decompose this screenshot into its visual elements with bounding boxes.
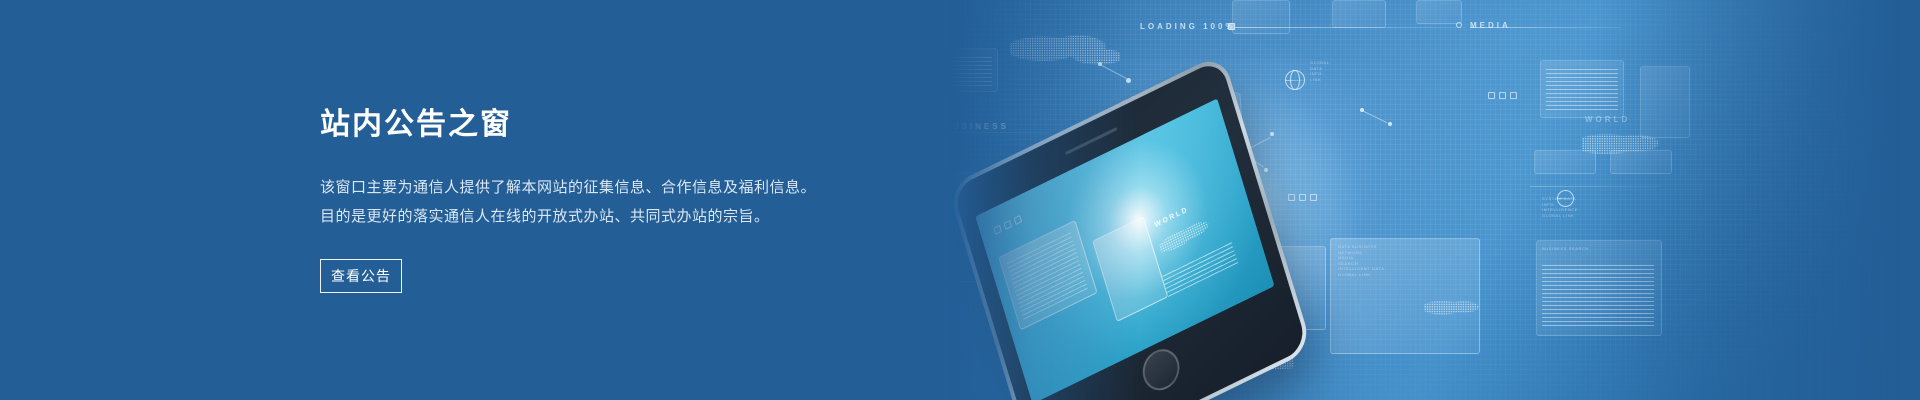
chip-icon-d2	[1499, 92, 1506, 99]
chip-icon-c1	[1288, 194, 1295, 201]
description-line-1: 该窗口主要为通信人提供了解本网站的征集信息、合作信息及福利信息。	[320, 173, 880, 202]
phone-home-button	[1138, 342, 1184, 397]
node-dot-7	[1388, 122, 1392, 126]
data-panel-13	[1640, 66, 1690, 138]
page-title: 站内公告之窗	[320, 107, 880, 143]
node-dot-2	[1126, 78, 1131, 83]
chip-icon-d1	[1488, 92, 1495, 99]
data-panel-11-lines	[1542, 262, 1654, 326]
data-panel-12-lines	[1546, 66, 1618, 110]
hud-rule-2	[930, 132, 1050, 133]
hud-rule-1	[1470, 27, 1620, 28]
screen-chip-3	[1014, 215, 1023, 225]
data-panel-2	[1232, 0, 1290, 34]
technology-artwork: LOADING 100% MEDIA BUSINESS NETWORK SEAR…	[840, 0, 1920, 400]
data-panel-15	[1610, 150, 1672, 174]
chip-icon-c2	[1299, 194, 1306, 201]
description-line-2: 目的是更好的落实通信人在线的开放式办站、共同式办站的宗旨。	[320, 202, 880, 231]
data-panel-10-map	[1424, 296, 1484, 322]
globe-icon-top-equator	[1285, 80, 1305, 81]
data-panel-3	[1332, 0, 1386, 28]
copy-block: 站内公告之窗 该窗口主要为通信人提供了解本网站的征集信息、合作信息及福利信息。 …	[320, 0, 880, 400]
screen-chip-1	[993, 225, 1002, 235]
description-text: 该窗口主要为通信人提供了解本网站的征集信息、合作信息及福利信息。 目的是更好的落…	[320, 173, 880, 231]
screen-card-2	[1092, 216, 1168, 322]
chip-icon-c3	[1310, 194, 1317, 201]
chip-icon-d3	[1510, 92, 1517, 99]
announcement-banner: LOADING 100% MEDIA BUSINESS NETWORK SEAR…	[0, 0, 1920, 400]
data-panel-1-lines	[934, 54, 992, 86]
data-panel-14	[1534, 150, 1596, 174]
node-dot-5	[1264, 168, 1268, 172]
view-announcement-button[interactable]: 查看公告	[320, 259, 402, 293]
screen-chip-2	[1004, 220, 1013, 230]
globe-icon-right-equator	[1557, 198, 1574, 199]
data-panel-4	[1416, 0, 1462, 24]
hud-rule-3	[1530, 186, 1660, 187]
node-dot-4	[1270, 132, 1274, 136]
